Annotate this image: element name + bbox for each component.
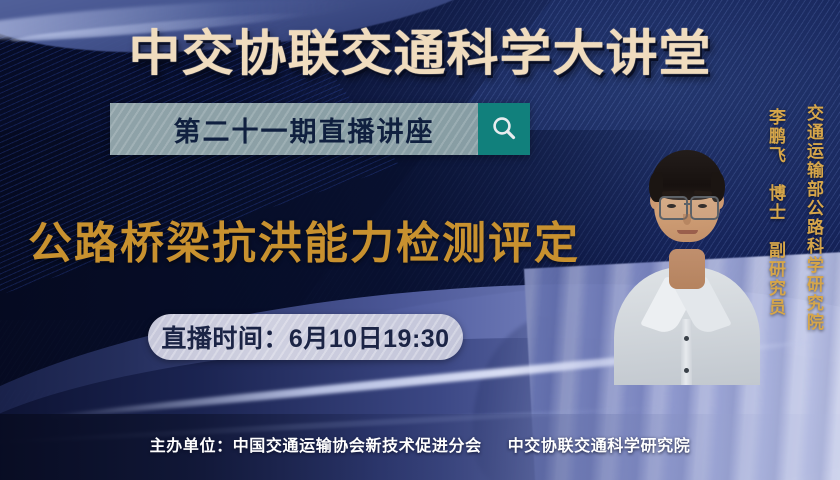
organizer-label: 主办单位：	[150, 438, 233, 455]
episode-banner-label: 第二十一期直播讲座	[154, 110, 435, 149]
portrait-shirt-button	[684, 336, 689, 341]
lecture-title: 公路桥梁抗洪能力检测评定	[28, 207, 580, 271]
speaker-name-title: 李鹏飞 博士 副研究员	[763, 108, 788, 317]
organizer-name-primary: 中国交通运输协会新技术促进分会	[233, 438, 482, 455]
broadcast-time-text: 直播时间：6月10日19:30	[161, 319, 449, 355]
poster-header-title: 中交协联交通科学大讲堂	[0, 14, 840, 85]
speaker-affiliation: 交通运输部公路科学研究院	[801, 104, 826, 332]
portrait-glasses-right-lens	[690, 196, 719, 220]
episode-banner-body: 第二十一期直播讲座	[110, 103, 478, 155]
portrait-nose	[683, 214, 691, 225]
search-icon[interactable]	[478, 103, 530, 155]
organizer-line: 主办单位：中国交通运输协会新技术促进分会中交协联交通科学研究院	[0, 432, 840, 456]
portrait-mouth	[677, 230, 698, 234]
episode-banner: 第二十一期直播讲座	[110, 103, 530, 155]
broadcast-time-badge: 直播时间：6月10日19:30	[148, 314, 463, 360]
livestream-poster: 中交协联交通科学大讲堂 第二十一期直播讲座 公路桥梁抗洪能力检测评定 直播时间：…	[0, 0, 840, 480]
speaker-portrait	[612, 120, 760, 385]
portrait-shirt-placket	[681, 319, 692, 385]
portrait-glasses-bridge	[684, 203, 690, 205]
portrait-shirt-button	[684, 368, 689, 373]
organizer-name-secondary: 中交协联交通科学研究院	[508, 438, 691, 455]
portrait-neck	[669, 249, 705, 289]
